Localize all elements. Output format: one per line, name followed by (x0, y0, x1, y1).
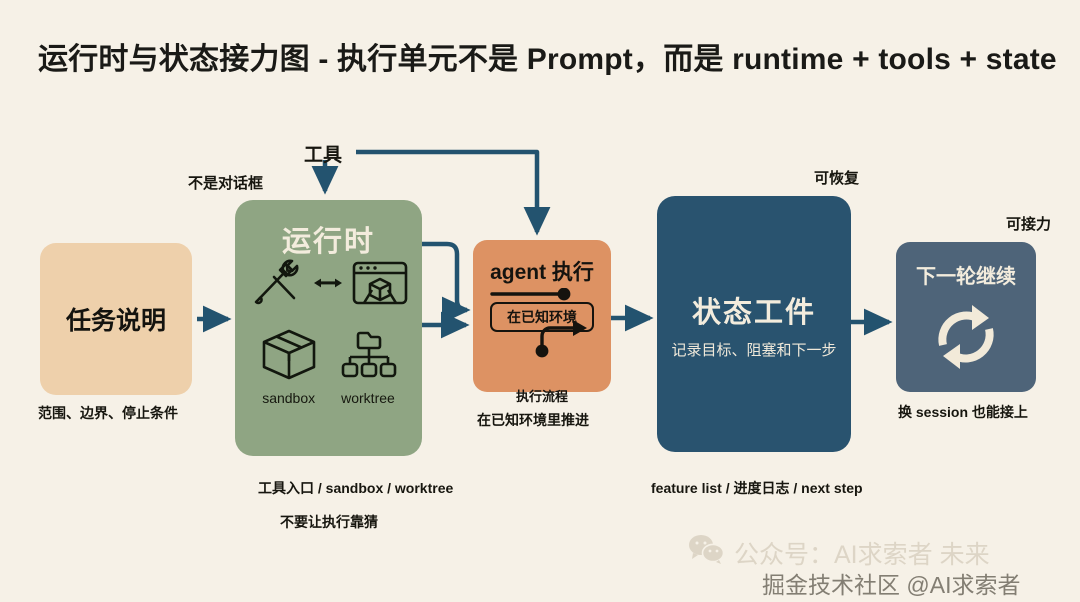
caption-state: feature list / 进度日志 / next step (651, 478, 863, 498)
bidirectional-arrow-icon (314, 276, 342, 295)
runtime-icon-grid: sandbox worktree (235, 258, 422, 406)
wechat-icon (688, 534, 724, 571)
node-runtime-title: 运行时 (235, 218, 422, 260)
runtime-icon-labels: sandbox worktree (235, 390, 422, 406)
node-next-round[interactable]: 下一轮继续 (896, 242, 1036, 392)
diagram-canvas: 运行时与状态接力图 - 执行单元不是 Prompt，而是 runtime + t… (0, 0, 1080, 602)
page-title: 运行时与状态接力图 - 执行单元不是 Prompt，而是 runtime + t… (38, 34, 1057, 78)
worktree-icon (340, 327, 398, 386)
sandbox-box-icon (260, 327, 318, 386)
caption-task: 范围、边界、停止条件 (38, 403, 178, 423)
runtime-icon-label-worktree: worktree (341, 390, 395, 406)
browser-window-icon (352, 259, 408, 312)
runtime-icon-label-sandbox: sandbox (262, 390, 315, 406)
node-agent-execution[interactable]: agent 执行 执行流程 在已知环境 (473, 240, 611, 392)
caption-runtime: 工具入口 / sandbox / worktree (258, 478, 453, 498)
refresh-cycle-icon (931, 303, 1001, 376)
node-task-title: 任务说明 (66, 301, 166, 337)
node-state-subtitle: 记录目标、阻塞和下一步 (671, 339, 836, 360)
node-next-title: 下一轮继续 (916, 260, 1016, 289)
annotation-not-a-dialog: 不是对话框 (188, 172, 263, 193)
annotation-relayable: 可接力 (1006, 213, 1051, 234)
tools-icon (250, 258, 304, 313)
node-agent-title: agent 执行 (473, 256, 611, 286)
arrow-runtime-branch-to-agent (422, 244, 467, 310)
caption-agent: 在已知环境里推进 (477, 410, 589, 430)
agent-env-chip: 在已知环境 (490, 302, 594, 332)
caption-runtime-2: 不要让执行靠猜 (280, 512, 378, 532)
runtime-icon-row-bottom (235, 327, 422, 386)
annotation-tools: 工具 (304, 140, 342, 167)
node-state-artifact[interactable]: 状态工件 记录目标、阻塞和下一步 (657, 196, 851, 452)
caption-next: 换 session 也能接上 (898, 402, 1028, 422)
runtime-icon-row-top (235, 258, 422, 313)
annotation-resumable: 可恢复 (814, 167, 859, 188)
node-runtime[interactable]: 运行时 (235, 200, 422, 456)
agent-flow-label: 执行流程 (473, 386, 611, 405)
node-task-description[interactable]: 任务说明 (40, 243, 192, 395)
node-state-title: 状态工件 (692, 289, 816, 331)
watermark-dark: 掘金技术社区 @AI求索者 (762, 566, 1020, 600)
